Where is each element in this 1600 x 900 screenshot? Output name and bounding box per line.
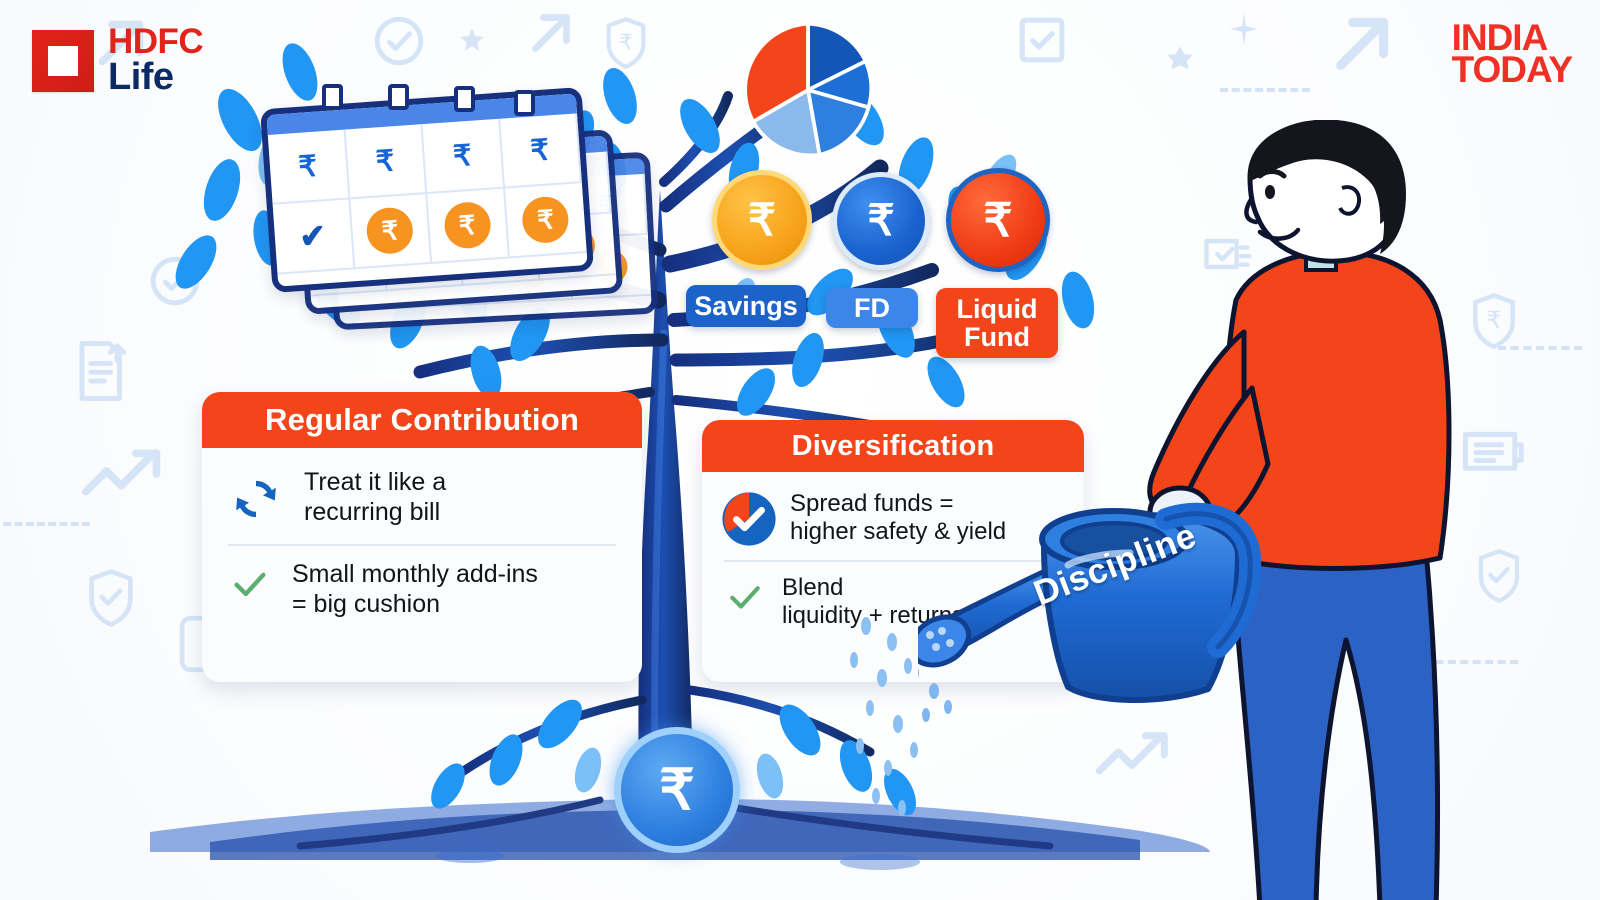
card-row-text: Small monthly add-ins = big cushion (292, 560, 538, 619)
today-wordmark: TODAY (1452, 54, 1572, 86)
calendar-card-front: ₹ ₹ ₹ ₹ ✔ ₹ ₹ ₹ (260, 87, 594, 293)
card-regular-contribution-title: Regular Contribution (202, 392, 642, 448)
hdfc-wordmark: HDFC (108, 26, 203, 58)
calendar-cell-rupee: ₹ (345, 124, 427, 199)
hdfc-square-logo-icon (32, 30, 94, 92)
card-row: Small monthly add-ins = big cushion (224, 560, 620, 619)
card-row: Treat it like a recurring bill (224, 468, 620, 530)
green-check-icon (224, 560, 276, 608)
calendar-ring (388, 84, 409, 110)
hdfc-life-logo: HDFC Life (32, 26, 203, 95)
savings-label: Savings (694, 292, 798, 320)
recurring-arrows-icon (224, 468, 288, 530)
divider (228, 544, 616, 546)
calendar-cell-rupee: ₹ (500, 113, 582, 188)
savings-coin-icon: ₹ (712, 170, 812, 270)
card-regular-contribution: Regular Contribution Treat it like a rec… (202, 392, 642, 682)
calendar-cell-coin: ₹ (427, 189, 509, 264)
green-check-icon (720, 574, 770, 620)
portfolio-allocation-pie (736, 18, 880, 162)
calendar-ring (454, 86, 475, 112)
fd-label: FD (854, 294, 890, 322)
eye (1265, 185, 1275, 199)
liquid-fund-label-line2: Fund (964, 323, 1030, 351)
water-drops-falling (830, 612, 970, 822)
liquid-fund-pill[interactable]: Liquid Fund (936, 288, 1058, 358)
calendar-cell-coin: ₹ (505, 183, 587, 258)
fd-pill[interactable]: FD (826, 288, 918, 328)
calendar-cell-rupee: ₹ (422, 119, 504, 194)
calendar-cell-rupee: ₹ (268, 130, 350, 205)
fd-coin-icon: ₹ (832, 172, 930, 270)
calendar-ring (322, 84, 343, 110)
card-row-text: Treat it like a recurring bill (304, 468, 446, 527)
liquid-fund-coin-icon: ₹ (946, 168, 1050, 272)
rupee-base-coin-icon: ₹ (614, 727, 740, 853)
savings-pill[interactable]: Savings (686, 285, 806, 327)
calendar-ring (514, 90, 535, 116)
life-wordmark: Life (108, 60, 203, 95)
pie-check-icon (720, 490, 778, 548)
india-today-logo: INDIA TODAY (1452, 22, 1572, 86)
calendar-cell-coin: ₹ (350, 194, 432, 269)
discipline-watering-can (918, 455, 1298, 725)
infographic-canvas: ₹ (0, 0, 1600, 900)
calendar-cell-check: ✔ (273, 199, 355, 274)
liquid-fund-label-line1: Liquid (957, 295, 1038, 323)
